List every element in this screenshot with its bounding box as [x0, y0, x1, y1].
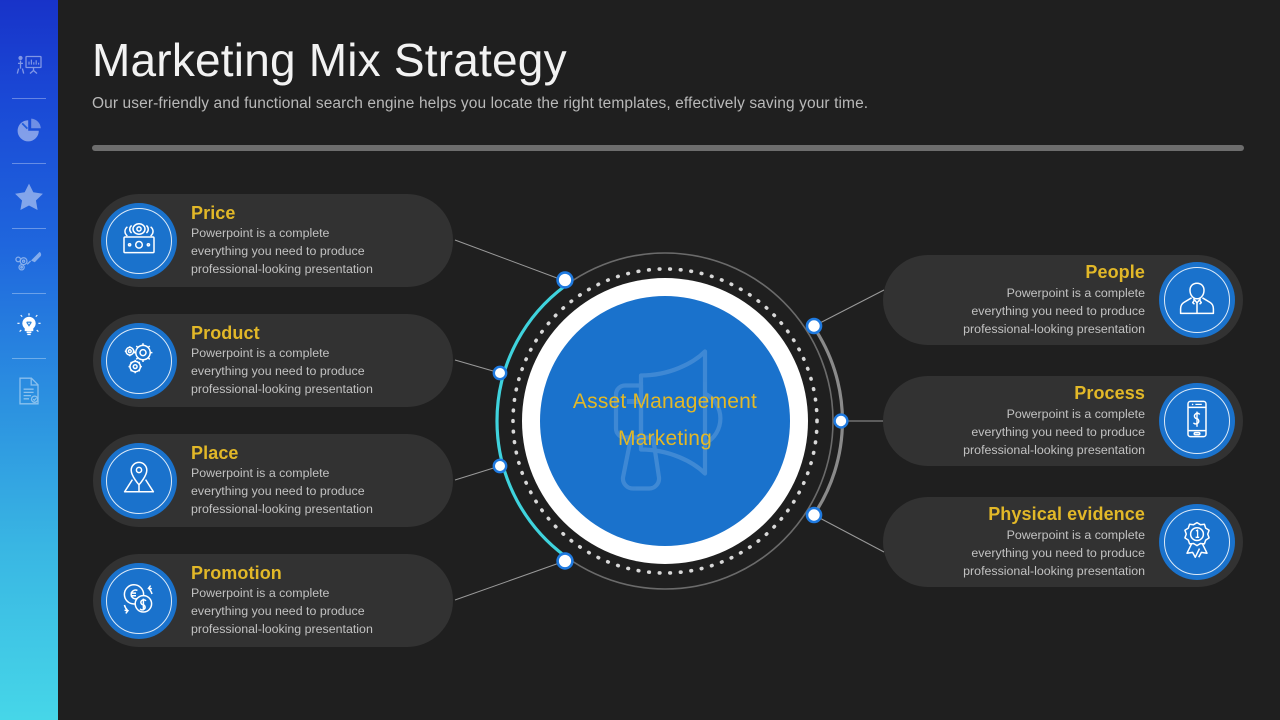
card-badge-promotion [101, 563, 177, 639]
center-hub[interactable]: Asset Management Marketing [497, 253, 833, 589]
gears-rocket-icon [14, 248, 44, 274]
sidebar-separator [12, 358, 46, 359]
sidebar-item-presentation[interactable] [0, 42, 58, 90]
connector-line-place [455, 466, 500, 480]
center-label-line1: Asset Management [573, 384, 757, 421]
card-badge-price [101, 203, 177, 279]
card-desc-process: Powerpoint is a complete everything you … [963, 406, 1145, 460]
card-desc-physical-evidence: Powerpoint is a complete everything you … [963, 527, 1145, 581]
card-process[interactable]: Process Powerpoint is a complete everyth… [883, 376, 1243, 466]
card-body-price: Price Powerpoint is a complete everythin… [177, 202, 391, 279]
card-physical-evidence[interactable]: Physical evidence Powerpoint is a comple… [883, 497, 1243, 587]
card-body-product: Product Powerpoint is a complete everyth… [177, 322, 391, 399]
slide-canvas: Marketing Mix Strategy Our user-friendly… [0, 0, 1280, 720]
lightbulb-icon [14, 311, 44, 341]
card-desc-promotion: Powerpoint is a complete everything you … [191, 585, 373, 639]
node-dot-process[interactable] [835, 415, 848, 428]
sidebar [0, 0, 58, 720]
sidebar-separator [12, 293, 46, 294]
card-body-physical-evidence: Physical evidence Powerpoint is a comple… [945, 503, 1159, 580]
card-place[interactable]: Place Powerpoint is a complete everythin… [93, 434, 453, 527]
center-blue-disc: Asset Management Marketing [540, 296, 790, 546]
card-title-promotion: Promotion [191, 562, 373, 585]
connector-line-product [455, 360, 500, 373]
sidebar-separator [12, 98, 46, 99]
card-desc-people: Powerpoint is a complete everything you … [963, 285, 1145, 339]
sidebar-item-documents[interactable] [0, 367, 58, 415]
card-price[interactable]: Price Powerpoint is a complete everythin… [93, 194, 453, 287]
center-label-line2: Marketing [573, 421, 757, 458]
card-title-price: Price [191, 202, 373, 225]
card-badge-place [101, 443, 177, 519]
card-badge-people [1159, 262, 1235, 338]
card-desc-place: Powerpoint is a complete everything you … [191, 465, 373, 519]
presenter-chart-icon [15, 54, 43, 78]
card-title-process: Process [963, 382, 1145, 405]
card-body-people: People Powerpoint is a complete everythi… [945, 261, 1159, 338]
mobile-payment-icon [1178, 398, 1216, 445]
card-promotion[interactable]: Promotion Powerpoint is a complete every… [93, 554, 453, 647]
card-people[interactable]: People Powerpoint is a complete everythi… [883, 255, 1243, 345]
sidebar-separator [12, 163, 46, 164]
coins-currency-icon [117, 578, 161, 623]
card-title-place: Place [191, 442, 373, 465]
card-product[interactable]: Product Powerpoint is a complete everyth… [93, 314, 453, 407]
document-check-icon [16, 376, 42, 406]
card-badge-process [1159, 383, 1235, 459]
page-title: Marketing Mix Strategy [92, 36, 1244, 84]
sidebar-item-favorites[interactable] [0, 172, 58, 220]
map-pin-icon [118, 458, 160, 503]
card-body-place: Place Powerpoint is a complete everythin… [177, 442, 391, 519]
star-icon [14, 182, 44, 211]
page-subtitle: Our user-friendly and functional search … [92, 95, 1244, 113]
header-divider [92, 145, 1244, 151]
sidebar-item-process[interactable] [0, 237, 58, 285]
card-badge-product [101, 323, 177, 399]
businessperson-icon [1176, 278, 1218, 323]
award-ribbon-icon [1176, 519, 1218, 566]
center-label: Asset Management Marketing [573, 384, 757, 458]
pie-chart-icon [15, 117, 43, 145]
card-title-physical-evidence: Physical evidence [963, 503, 1145, 526]
money-cash-icon [117, 218, 161, 263]
card-title-people: People [963, 261, 1145, 284]
card-body-process: Process Powerpoint is a complete everyth… [945, 382, 1159, 459]
sidebar-item-ideas[interactable] [0, 302, 58, 350]
gears-icon [118, 338, 160, 383]
card-desc-price: Powerpoint is a complete everything you … [191, 225, 373, 279]
card-badge-physical-evidence [1159, 504, 1235, 580]
sidebar-item-charts[interactable] [0, 107, 58, 155]
header: Marketing Mix Strategy Our user-friendly… [92, 36, 1244, 113]
card-title-product: Product [191, 322, 373, 345]
card-body-promotion: Promotion Powerpoint is a complete every… [177, 562, 391, 639]
card-desc-product: Powerpoint is a complete everything you … [191, 345, 373, 399]
sidebar-separator [12, 228, 46, 229]
